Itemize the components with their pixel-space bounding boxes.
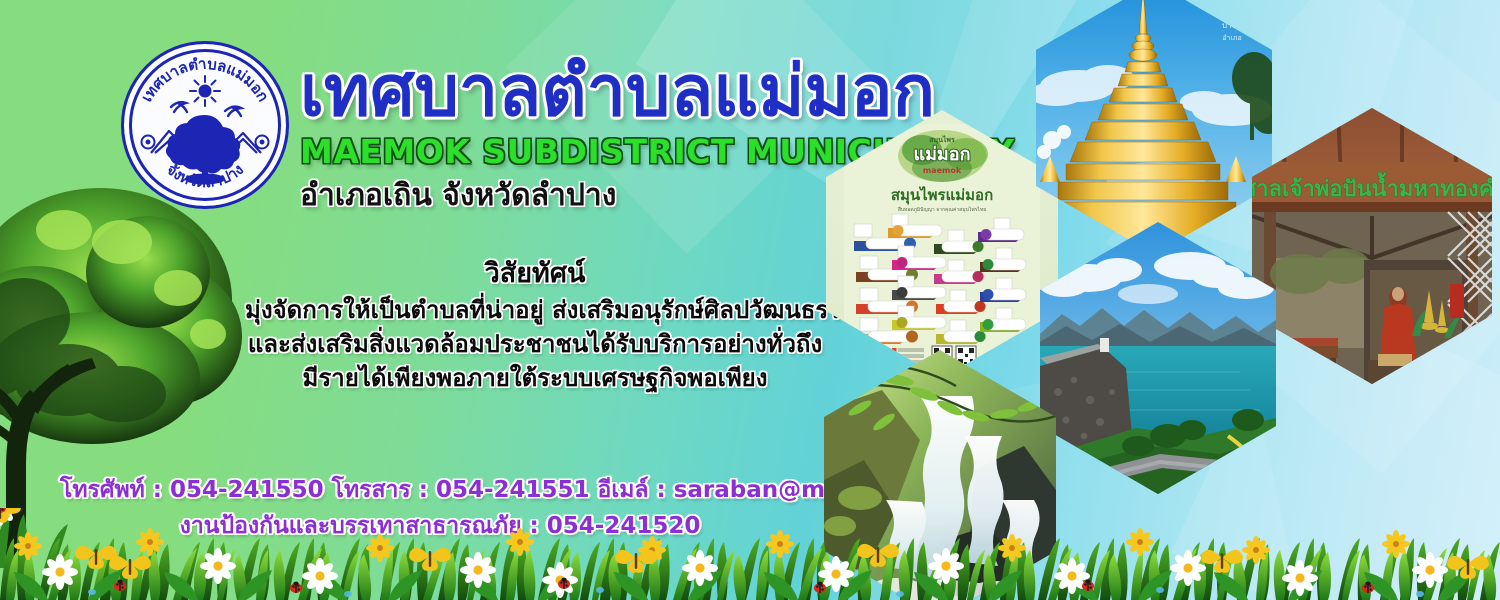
svg-text:แม่มอก: แม่มอก [913,144,970,165]
svg-text:สืบทอดภูมิปัญญา จากคุณค่าสมุนไ: สืบทอดภูมิปัญญา จากคุณค่าสมุนไพรไทย [898,206,986,213]
svg-text:สมุนไพร: สมุนไพร [929,135,955,144]
shrine-photo-artwork: ศาลเจ้าพ่อปันน้ำมหาทองคำ [1252,108,1492,384]
pagoda-photo-artwork: วัดพ บ้านกุ่ อำเภอ [1036,0,1272,254]
bird-icon [225,107,241,116]
svg-text:สมุนไพรแม่มอก: สมุนไพรแม่มอก [891,185,993,205]
svg-text:วัดพ: วัดพ [1200,0,1224,8]
svg-text:maemok: maemok [923,166,962,175]
vision-heading: วิสัยทัศน์ [245,255,825,293]
svg-text:อำเภอ: อำเภอ [1222,34,1241,42]
bird-icon [171,102,187,112]
vision-line-3: มีรายได้เพียงพอภายใต้ระบบเศรษฐกิจพอเพียง [245,361,825,395]
hexagon-golden-pagoda-photo[interactable]: วัดพ บ้านกุ่ อำเภอ [1036,0,1272,254]
hexagon-shrine-photo[interactable]: ศาลเจ้าพ่อปันน้ำมหาทองคำ [1252,108,1492,384]
dam-photo-artwork [1040,222,1276,494]
contact-line-phone-fax-email: โทรศัพท์ : 054-241550 โทรสาร : 054-24155… [60,472,820,508]
vision-block: วิสัยทัศน์ มุ่งจัดการให้เป็นตำบลที่น่าอย… [245,255,825,395]
municipality-banner: เทศบาลตำบลแม่มอก จังหวัดลำปาง [0,0,1500,600]
svg-text:ศาลเจ้าพ่อปันน้ำมหาทองคำ: ศาลเจ้าพ่อปันน้ำมหาทองคำ [1252,172,1492,202]
hexagon-reservoir-dam-photo[interactable] [1040,222,1276,494]
grass-flower-border [0,508,1500,600]
page-title-thai: เทศบาลตำบลแม่มอก [300,52,960,130]
svg-text:บ้านกุ่: บ้านกุ่ [1222,21,1242,30]
vision-line-2: และส่งเสริมสิ่งแวดล้อมประชาชนได้รับบริกา… [245,327,825,361]
seal-artwork: เทศบาลตำบลแม่มอก จังหวัดลำปาง [121,41,289,209]
municipality-seal-logo: เทศบาลตำบลแม่มอก จังหวัดลำปาง [121,41,289,209]
vision-line-1: มุ่งจัดการให้เป็นตำบลที่น่าอยู่ ส่งเสริม… [245,293,825,327]
sun-icon [190,76,220,106]
